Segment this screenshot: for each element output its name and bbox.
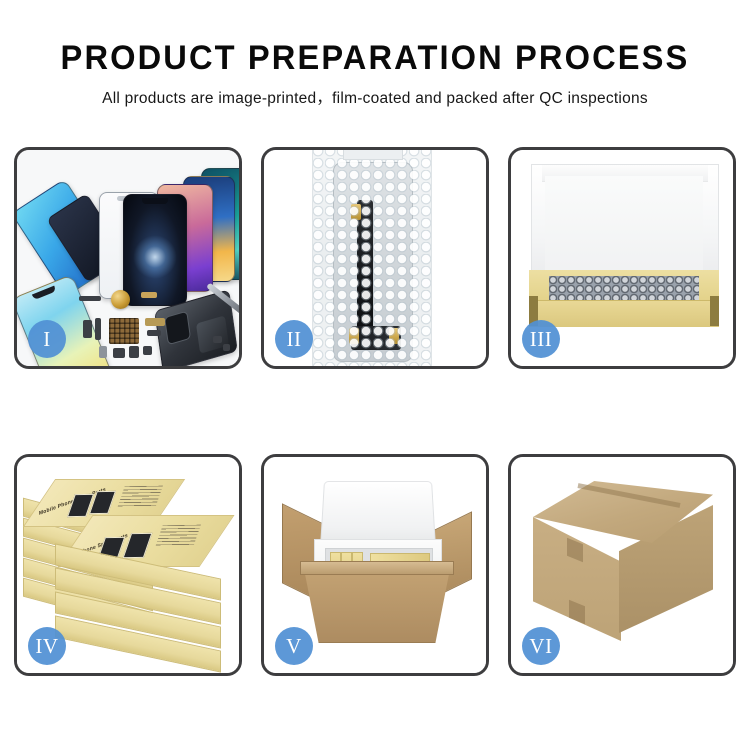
page-subtitle: All products are image-printed，film-coat…	[0, 89, 750, 109]
spare-part-icon	[145, 318, 165, 326]
process-step-panel-3[interactable]: III	[508, 147, 736, 369]
step-badge-6: VI	[522, 627, 560, 665]
page-header: PRODUCT PREPARATION PROCESS All products…	[0, 0, 750, 109]
step-badge-5: V	[275, 627, 313, 665]
step-badge-4: IV	[28, 627, 66, 665]
spare-part-icon	[129, 346, 139, 358]
bag-seal-icon	[343, 150, 403, 160]
spare-part-icon	[113, 348, 125, 358]
camera-module-icon	[164, 311, 191, 346]
spare-part-icon	[83, 320, 92, 338]
vibration-motor-icon	[111, 290, 130, 309]
box-spec-text-icon	[155, 525, 201, 548]
spare-part-icon	[213, 336, 222, 343]
process-step-panel-6[interactable]: VI	[508, 454, 736, 676]
box-interior-icon	[545, 176, 703, 278]
spare-part-icon	[79, 296, 101, 301]
phone-wallpaper-icon	[133, 235, 177, 279]
process-step-panel-2[interactable]: II	[261, 147, 489, 369]
logic-board-chip-icon	[109, 318, 139, 344]
phone-dark-screen-icon	[123, 194, 187, 306]
step-badge-3: III	[522, 320, 560, 358]
spare-part-icon	[147, 330, 161, 336]
carton-body-icon	[304, 569, 450, 643]
kraft-box-front-icon	[529, 300, 719, 327]
box-corner-right-icon	[710, 296, 719, 326]
phone-front-notch-icon	[32, 286, 57, 301]
phone-notch-icon	[142, 198, 168, 204]
box-spec-text-icon	[117, 486, 163, 509]
bubble-texture-icon	[313, 150, 431, 366]
step-badge-2: II	[275, 320, 313, 358]
page-title: PRODUCT PREPARATION PROCESS	[15, 38, 735, 78]
step-badge-1: I	[28, 320, 66, 358]
process-step-grid: I II III	[14, 147, 736, 676]
spare-part-icon	[141, 292, 157, 298]
bubble-wrap-bag-icon	[312, 150, 432, 366]
carton-rim-icon	[300, 561, 454, 575]
process-step-panel-5[interactable]: V	[261, 454, 489, 676]
spare-part-icon	[99, 346, 107, 358]
spare-part-icon	[143, 346, 152, 355]
spare-part-icon	[223, 344, 230, 351]
spare-part-icon	[95, 318, 101, 340]
process-step-panel-4[interactable]: Mobile Phone Spare Parts Mobile Phone Sp…	[14, 454, 242, 676]
process-step-panel-1[interactable]: I	[14, 147, 242, 369]
